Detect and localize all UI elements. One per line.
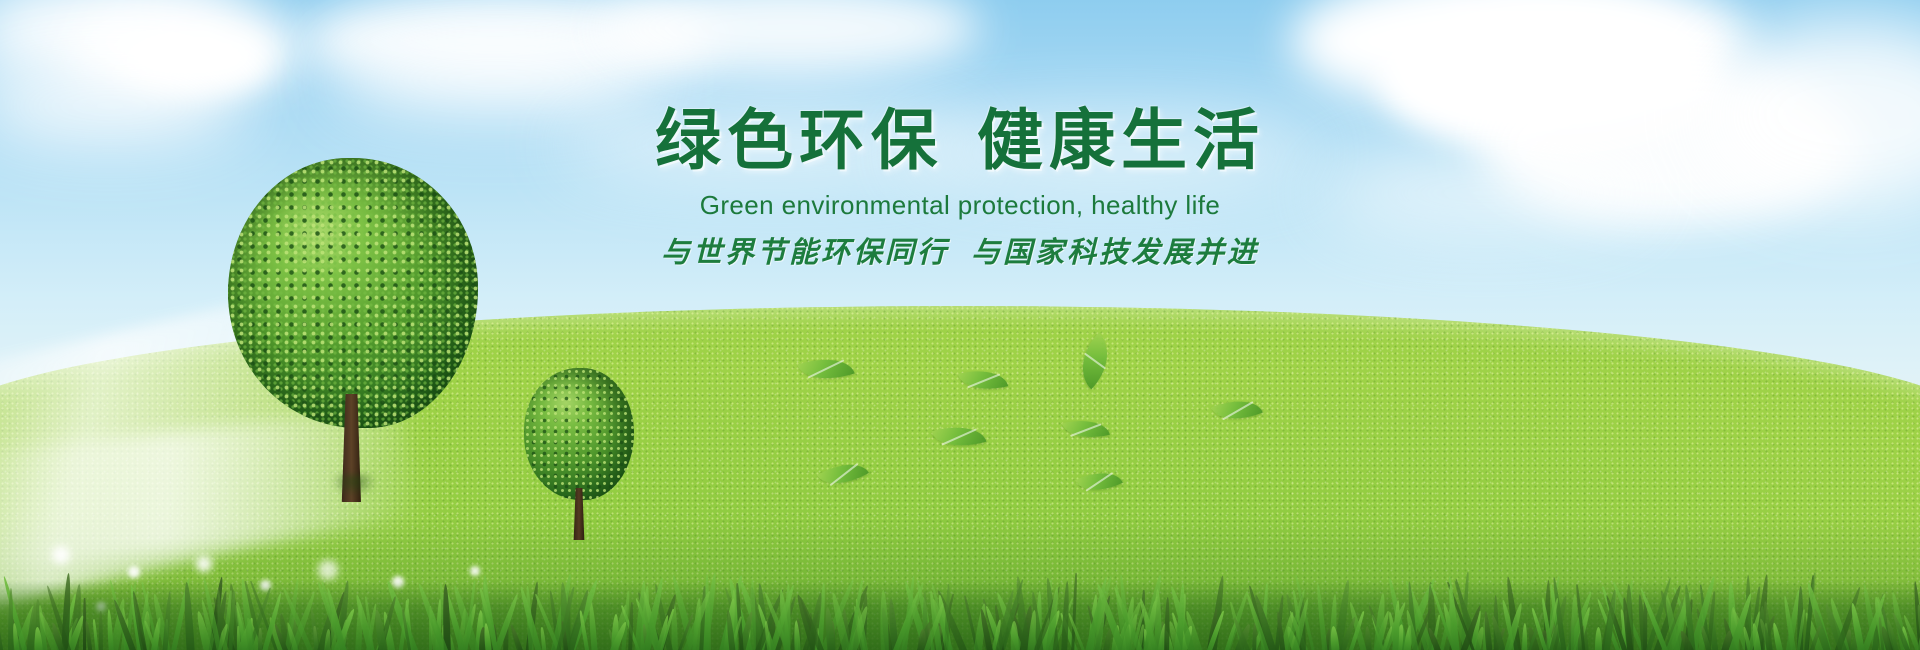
leaf-vein	[1070, 423, 1102, 436]
leaf-vein	[1084, 353, 1106, 369]
leaf-vein	[1222, 401, 1253, 420]
tree-foliage-texture	[524, 368, 634, 500]
cloud-shape	[330, 42, 660, 118]
small-tree	[524, 368, 634, 543]
tree-canopy	[524, 368, 634, 500]
cloud-shape	[1320, 150, 1650, 236]
cloud-shape	[0, 66, 250, 146]
tree-foliage-texture	[228, 158, 478, 428]
foreground-grass-strip	[0, 560, 1920, 650]
leaf-vein	[808, 360, 844, 379]
cloud-shape	[900, 116, 1320, 190]
grass-blade	[258, 628, 262, 650]
tree-canopy	[228, 158, 478, 428]
leaf-vein	[941, 428, 976, 445]
eco-hero-banner: 绿色环保健康生活 Green environmental protection,…	[0, 0, 1920, 650]
large-tree	[228, 158, 478, 498]
tree-ground-shadow	[332, 474, 376, 496]
leaf-vein	[967, 373, 1000, 387]
